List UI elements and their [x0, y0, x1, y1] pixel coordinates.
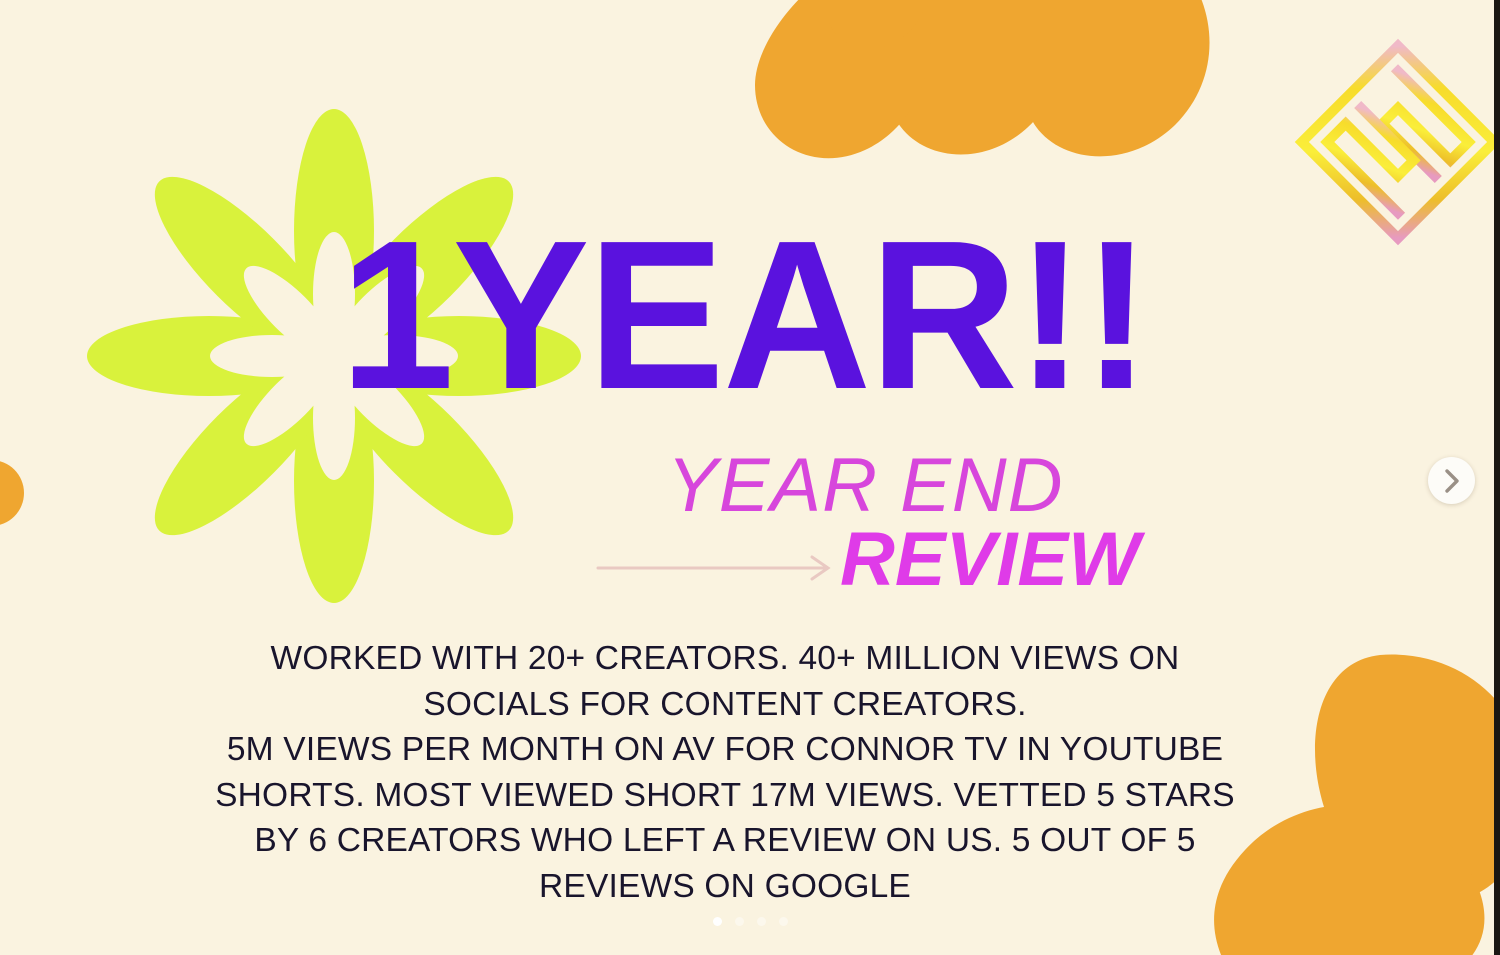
body-line: WORKED WITH 20+ CREATORS. 40+ MILLION VI…: [195, 636, 1255, 682]
next-slide-button[interactable]: [1428, 457, 1475, 504]
body-copy: WORKED WITH 20+ CREATORS. 40+ MILLION VI…: [195, 636, 1255, 909]
slide-canvas: 1YEAR!! YEAR END REVIEW WORKED WITH 20+ …: [0, 0, 1500, 955]
subtitle-line-2: REVIEW: [840, 522, 1140, 598]
carousel-dot-3[interactable]: [757, 917, 766, 926]
right-edge-strip: [1494, 0, 1500, 955]
chevron-right-icon: [1443, 468, 1460, 494]
body-line: SOCIALS FOR CONTENT CREATORS.: [195, 682, 1255, 728]
carousel-dot-1[interactable]: [713, 917, 722, 926]
page-title: 1YEAR!!: [340, 222, 1149, 409]
body-line: REVIEWS ON GOOGLE: [195, 864, 1255, 910]
carousel-dot-2[interactable]: [735, 917, 744, 926]
body-line: 5M VIEWS PER MONTH ON AV FOR CONNOR TV I…: [195, 727, 1255, 773]
carousel-dot-4[interactable]: [779, 917, 788, 926]
body-line: SHORTS. MOST VIEWED SHORT 17M VIEWS. VET…: [195, 773, 1255, 819]
body-line: BY 6 CREATORS WHO LEFT A REVIEW ON US. 5…: [195, 818, 1255, 864]
subtitle-line-1: YEAR END: [667, 448, 1064, 524]
carousel-dots: [0, 917, 1500, 926]
